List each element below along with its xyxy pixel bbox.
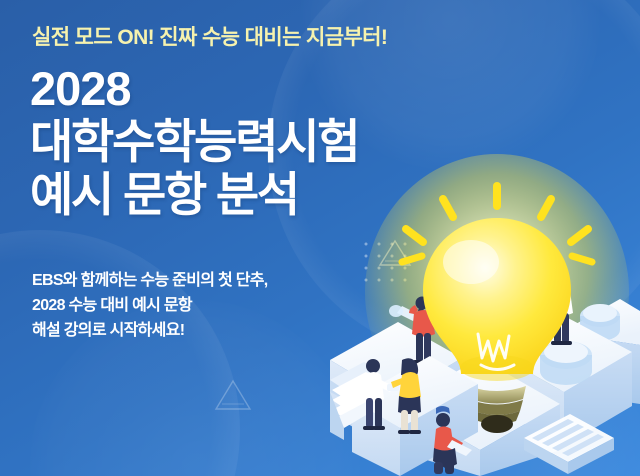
promo-banner: 실전 모드 ON! 진짜 수능 대비는 지금부터! 2028 대학수학능력시험 … [0,0,640,476]
banner-text-layer: 실전 모드 ON! 진짜 수능 대비는 지금부터! 2028 대학수학능력시험 … [0,0,640,476]
banner-headline: 2028 대학수학능력시험 예시 문항 분석 [30,62,358,221]
subcopy-line-3: 해설 강의로 시작하세요! [32,318,268,343]
subcopy-line-1: EBS와 함께하는 수능 준비의 첫 단추, [32,268,268,293]
headline-line-year: 2028 [30,62,358,115]
headline-line-analysis: 예시 문항 분석 [30,168,358,221]
banner-tagline: 실전 모드 ON! 진짜 수능 대비는 지금부터! [32,21,387,51]
subcopy-line-2: 2028 수능 대비 예시 문항 [32,293,268,318]
banner-subcopy: EBS와 함께하는 수능 준비의 첫 단추, 2028 수능 대비 예시 문항 … [32,268,268,343]
headline-line-exam: 대학수학능력시험 [30,115,358,168]
